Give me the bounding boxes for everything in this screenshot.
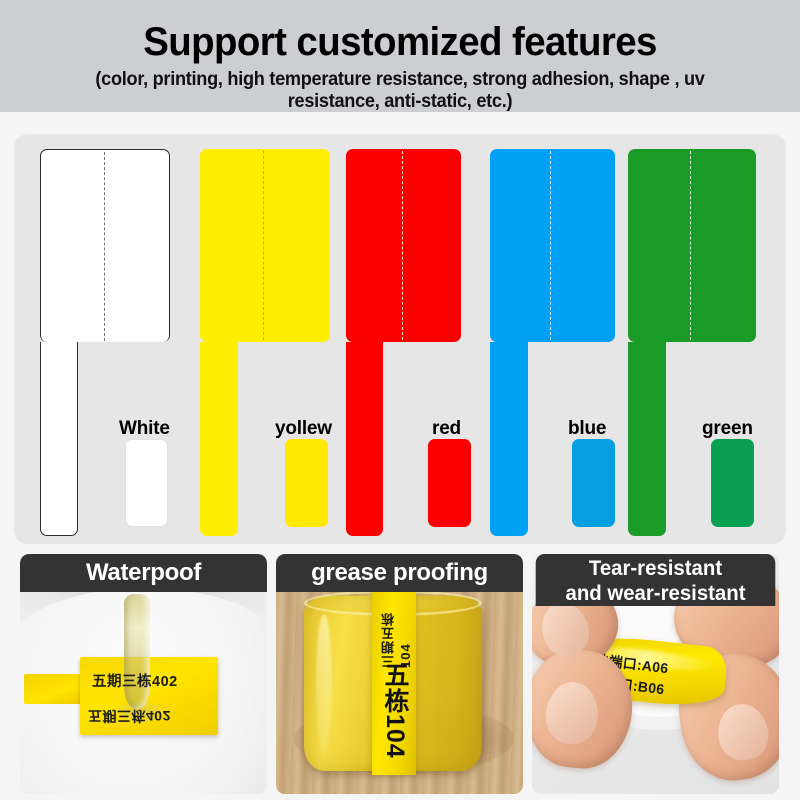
- flag-head: [200, 149, 330, 342]
- color-swatch-white: [125, 439, 168, 527]
- page-title: Support customized features: [16, 22, 784, 62]
- flag-tail: [490, 342, 528, 536]
- label-text-top: 五期三栋402: [92, 670, 212, 691]
- color-swatch-yellow: [285, 439, 328, 527]
- color-column-blue: blue: [490, 134, 638, 544]
- color-name-yellow: yollew: [275, 418, 332, 440]
- color-swatch-blue: [572, 439, 615, 527]
- flag-tail: [40, 342, 78, 536]
- feature-card-grease-proofing: 三期五栋104 五栋104 grease proofing: [276, 554, 523, 794]
- flag-head: [346, 149, 461, 342]
- flag-head: [628, 149, 756, 342]
- color-swatch-red: [428, 439, 471, 527]
- feature-cards: 五期三栋402 五期三栋402 Waterpoof 三期五栋104 五栋104 …: [20, 554, 780, 794]
- perforation-line: [402, 151, 403, 340]
- color-name-white: White: [119, 418, 170, 440]
- flag-head: [490, 149, 615, 342]
- feature-card-waterproof: 五期三栋402 五期三栋402 Waterpoof: [20, 554, 267, 794]
- color-name-red: red: [432, 418, 461, 440]
- card-title-waterproof: Waterpoof: [20, 554, 267, 592]
- color-column-green: green: [628, 134, 776, 544]
- label-text-small: 三期五栋104: [379, 598, 413, 668]
- perforation-line: [690, 151, 691, 340]
- card-title-line1: Tear-resistant: [536, 556, 776, 581]
- color-labels-panel: White yollew red blue: [14, 134, 786, 544]
- page-header: Support customized features (color, prin…: [0, 0, 800, 112]
- flag-tail: [200, 342, 238, 536]
- label-tail: [24, 674, 82, 704]
- feature-card-tear-resistant: 本地端口:A06 末端端口:B06 Tear-resistant and wea…: [532, 554, 779, 794]
- card-title-line2: and wear-resistant: [536, 581, 776, 606]
- label-text-bottom: 五期三栋402: [88, 706, 213, 726]
- card-title-grease-proofing: grease proofing: [276, 554, 523, 592]
- water-stream-icon: [124, 594, 150, 709]
- flag-head: [40, 149, 170, 342]
- label-text-large: 五栋104: [377, 662, 413, 759]
- color-name-green: green: [702, 418, 753, 440]
- perforation-line: [104, 152, 105, 341]
- color-name-blue: blue: [568, 418, 606, 440]
- color-column-yellow: yollew: [200, 134, 348, 544]
- perforation-line: [550, 151, 551, 340]
- color-column-white: White: [40, 134, 188, 544]
- flag-tail: [346, 342, 383, 536]
- perforation-line: [263, 151, 264, 340]
- card-title-tear-resistant: Tear-resistant and wear-resistant: [536, 554, 776, 606]
- glass-highlight: [316, 614, 332, 754]
- color-column-red: red: [346, 134, 494, 544]
- color-swatch-green: [711, 439, 754, 527]
- page-subtitle: (color, printing, high temperature resis…: [28, 68, 772, 113]
- flag-tail: [628, 342, 666, 536]
